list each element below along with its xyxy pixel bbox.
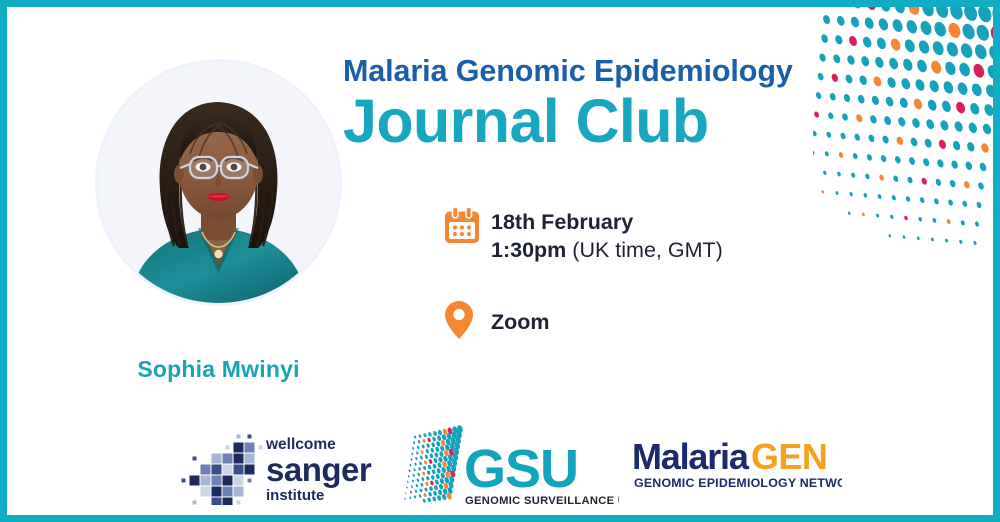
border-top: [0, 0, 1000, 7]
border-right: [993, 0, 1000, 522]
event-time-value: 1:30pm: [491, 238, 566, 262]
title-line-2: Journal Club: [343, 90, 873, 153]
location-row: Zoom: [445, 301, 723, 339]
border-left: [0, 0, 7, 522]
malariagen-subtitle-text: GENOMIC EPIDEMIOLOGY NETWORK: [634, 476, 842, 490]
date-time-text: 18th February 1:30pm (UK time, GMT): [491, 207, 723, 265]
location-text: Zoom: [491, 301, 550, 336]
gsu-subtitle-text: GENOMIC SURVEILLANCE UNIT: [465, 495, 619, 507]
gsu-acronym-text: GSU: [464, 439, 578, 499]
malariagen-logo: Malaria GEN GENOMIC EPIDEMIOLOGY NETWORK: [632, 433, 842, 495]
page-title: Malaria Genomic Epidemiology Journal Clu…: [343, 55, 873, 153]
logo-bar: wellcome sanger institute GSU GENOMIC SU…: [14, 425, 986, 511]
sanger-line-2-text: sanger: [266, 451, 372, 488]
event-time: 1:30pm (UK time, GMT): [491, 236, 723, 264]
malariagen-word2-text: GEN: [751, 436, 827, 477]
malariagen-word1-text: Malaria: [632, 436, 750, 477]
calendar-icon: [445, 207, 491, 243]
event-time-note: (UK time, GMT): [572, 238, 723, 262]
photo-clip: [98, 62, 339, 303]
sanger-line-3-text: institute: [266, 487, 324, 504]
event-details: 18th February 1:30pm (UK time, GMT) Zoom: [445, 207, 723, 339]
event-poster: Sophia Mwinyi Malaria Genomic Epidemiolo…: [0, 0, 1000, 522]
border-bottom: [0, 515, 1000, 522]
speaker-photo: [95, 59, 342, 306]
poster-content: Sophia Mwinyi Malaria Genomic Epidemiolo…: [7, 7, 993, 515]
wellcome-sanger-institute-logo: wellcome sanger institute: [174, 425, 399, 505]
event-location: Zoom: [491, 302, 550, 336]
speaker-name: Sophia Mwinyi: [95, 356, 342, 383]
map-pin-icon: [445, 301, 491, 339]
title-line-1: Malaria Genomic Epidemiology: [343, 55, 873, 88]
date-time-row: 18th February 1:30pm (UK time, GMT): [445, 207, 723, 265]
event-date: 18th February: [491, 208, 723, 236]
genomic-surveillance-unit-logo: GSU GENOMIC SURVEILLANCE UNIT: [404, 425, 619, 509]
